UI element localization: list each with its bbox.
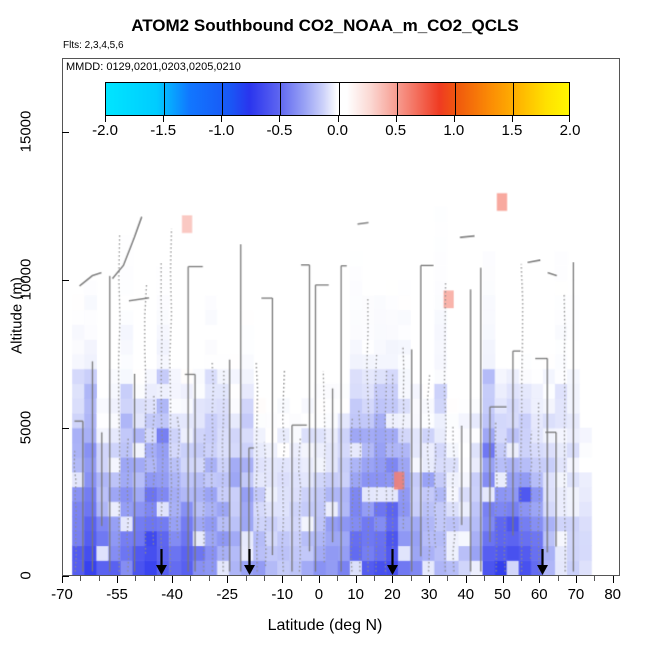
colorbar-gradient [105,82,570,116]
x-axis-tick-label: -10 [271,586,293,603]
x-axis-tick [539,576,540,583]
x-axis-tick-label: -55 [106,586,128,603]
y-axis-tick-label: 5000 [18,402,35,454]
x-axis-tick [613,576,614,583]
x-axis-tick-label: 30 [421,586,438,603]
x-axis-tick-label: 60 [531,586,548,603]
x-axis-minor-tick [301,576,302,581]
x-axis-tick [429,576,430,583]
colorbar-tick-label: -1.0 [208,122,234,139]
colorbar-divider [397,83,398,115]
colorbar: -2.0-1.5-1.0-0.50.00.51.01.52.0 [105,82,570,116]
x-axis-minor-tick [447,576,448,581]
x-axis-tick-label: -25 [216,586,238,603]
x-axis-minor-tick [99,576,100,581]
x-axis-title: Latitude (deg N) [0,617,650,635]
x-axis-minor-tick [484,576,485,581]
x-axis-minor-tick [154,576,155,581]
x-axis-minor-tick [521,576,522,581]
down-arrow-icon [386,549,399,575]
colorbar-divider [222,83,223,115]
x-axis-tick [466,576,467,583]
x-axis-minor-tick [264,576,265,581]
x-axis-tick [227,576,228,583]
down-arrow-icon [243,549,256,575]
y-axis-tick-label: 0 [18,550,35,602]
x-axis-minor-tick [374,576,375,581]
x-axis-minor-tick [411,576,412,581]
y-axis-tick [62,280,69,281]
colorbar-tick-label: 1.5 [501,122,522,139]
y-axis-tick [62,428,69,429]
x-axis-minor-tick [594,576,595,581]
colorbar-divider [164,83,165,115]
colorbar-divider [513,83,514,115]
x-axis-tick [62,576,63,583]
x-axis-tick-label: 10 [347,586,364,603]
x-axis-tick [392,576,393,583]
colorbar-divider [455,83,456,115]
colorbar-tick-label: -0.5 [266,122,292,139]
x-axis-tick [319,576,320,583]
y-axis-tick [62,576,69,577]
colorbar-divider [280,83,281,115]
y-axis-title: Altitude (m) [9,256,26,376]
x-axis-minor-tick [246,576,247,581]
mmdd-annotation: MMDD: 0129,0201,0203,0205,0210 [66,61,241,73]
x-axis-minor-tick [190,576,191,581]
x-axis-tick [576,576,577,583]
colorbar-tick-label: 0.0 [327,122,348,139]
flights-annotation: Flts: 2,3,4,5,6 [63,40,124,51]
colorbar-tick-label: -1.5 [150,122,176,139]
y-axis-tick [62,132,69,133]
x-axis-minor-tick [135,576,136,581]
x-axis-tick-label: 50 [494,586,511,603]
colorbar-tick-label: 2.0 [560,122,581,139]
page-title: ATOM2 Southbound CO2_NOAA_m_CO2_QCLS [0,16,650,36]
x-axis-tick [356,576,357,583]
x-axis-tick [282,576,283,583]
x-axis-tick-label: -40 [161,586,183,603]
colorbar-tick-label: 1.0 [443,122,464,139]
x-axis-minor-tick [80,576,81,581]
x-axis-tick-label: 80 [604,586,621,603]
x-axis-tick [503,576,504,583]
colorbar-divider [339,83,340,115]
figure-canvas: ATOM2 Southbound CO2_NOAA_m_CO2_QCLS Flt… [0,0,650,650]
y-axis-tick-label: 15000 [18,106,35,158]
down-arrow-icon [155,549,168,575]
x-axis-tick-label: 20 [384,586,401,603]
x-axis-tick-label: 40 [457,586,474,603]
x-axis-tick-label: 70 [568,586,585,603]
x-axis-tick-label: -70 [51,586,73,603]
x-axis-minor-tick [209,576,210,581]
x-axis-minor-tick [558,576,559,581]
x-axis-minor-tick [337,576,338,581]
colorbar-tick-label: -2.0 [92,122,118,139]
x-axis-tick [117,576,118,583]
x-axis-tick [172,576,173,583]
x-axis-tick-label: 0 [315,586,323,603]
down-arrow-icon [536,549,549,575]
colorbar-tick-label: 0.5 [385,122,406,139]
